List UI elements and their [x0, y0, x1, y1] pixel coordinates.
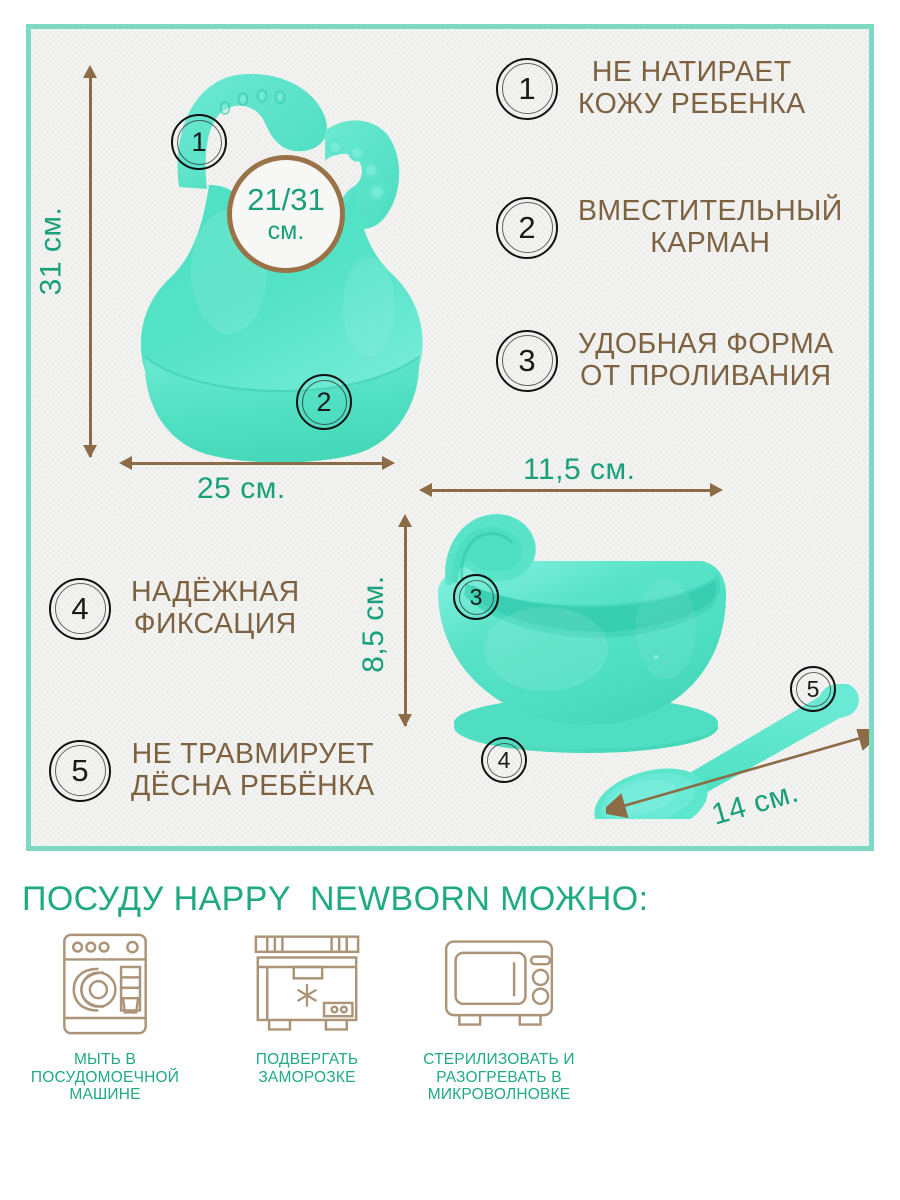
feature-item-5: 5 НЕ ТРАВМИРУЕТ ДЁСНА РЕБЁНКА — [49, 739, 375, 803]
bowl-height-label: 8,5 см. — [357, 575, 391, 673]
callout-badge-1[interactable]: 1 — [171, 114, 227, 170]
feature-badge-1[interactable]: 1 — [496, 58, 558, 120]
bowl-height-arrow-line — [404, 526, 407, 726]
bib-width-label: 25 см. — [197, 472, 286, 506]
feature-item-3: 3 УДОБНАЯ ФОРМА ОТ ПРОЛИВАНИЯ — [496, 329, 834, 393]
dishwasher-icon — [10, 926, 200, 1042]
bowl-width-arrow-line — [431, 489, 711, 492]
main-panel: 21/31 см. 1 2 31 см. 25 см. — [26, 24, 874, 851]
feature-label-2: ВМЕСТИТЕЛЬНЫЙ КАРМАН — [578, 196, 843, 260]
care-section-title: ПОСУДУ HAPPY NEWBORN МОЖНО: — [22, 880, 648, 919]
bowl-width-arrow-head-right — [710, 483, 723, 497]
callout-badge-2[interactable]: 2 — [296, 374, 352, 430]
care-caption-freezer: ПОДВЕРГАТЬ ЗАМОРОЗКЕ — [212, 1051, 402, 1086]
feature-label-4: НАДЁЖНАЯ ФИКСАЦИЯ — [131, 577, 300, 641]
bib-height-arrow-line — [89, 77, 92, 457]
feature-item-1: 1 НЕ НАТИРАЕТ КОЖУ РЕБЕНКА — [496, 57, 806, 121]
feature-label-3: УДОБНАЯ ФОРМА ОТ ПРОЛИВАНИЯ — [578, 329, 834, 393]
care-caption-dishwasher: МЫТЬ В ПОСУДОМОЕЧНОЙ МАШИНЕ — [10, 1051, 200, 1104]
feature-badge-5[interactable]: 5 — [49, 740, 111, 802]
freezer-icon — [212, 926, 402, 1042]
bib-neck-size-unit: см. — [268, 219, 305, 244]
callout-badge-4[interactable]: 4 — [481, 737, 527, 783]
feature-item-4: 4 НАДЁЖНАЯ ФИКСАЦИЯ — [49, 577, 300, 641]
care-item-microwave: СТЕРИЛИЗОВАТЬ И РАЗОГРЕВАТЬ В МИКРОВОЛНО… — [404, 926, 594, 1104]
feature-badge-4[interactable]: 4 — [49, 578, 111, 640]
feature-badge-3[interactable]: 3 — [496, 330, 558, 392]
callout-badge-3[interactable]: 3 — [453, 574, 499, 620]
bowl-height-arrow-head-up — [398, 514, 412, 527]
care-item-dishwasher: МЫТЬ В ПОСУДОМОЕЧНОЙ МАШИНЕ — [10, 926, 200, 1104]
bib-height-arrow-head-up — [83, 65, 97, 78]
bowl-height-arrow-head-down — [398, 714, 412, 727]
bowl-product-image — [426, 499, 746, 764]
bib-neck-size-value: 21/31 — [247, 184, 325, 215]
feature-label-1: НЕ НАТИРАЕТ КОЖУ РЕБЕНКА — [578, 57, 806, 121]
bowl-width-label: 11,5 см. — [523, 453, 635, 487]
care-instructions-section: ПОСУДУ HAPPY NEWBORN МОЖНО: — [0, 868, 900, 1168]
bib-width-arrow-head-right — [382, 456, 395, 470]
bib-neck-size-badge: 21/31 см. — [227, 155, 345, 273]
infographic-root: 21/31 см. 1 2 31 см. 25 см. — [0, 0, 900, 1200]
microwave-icon — [404, 926, 594, 1042]
bowl-width-arrow-head-left — [419, 483, 432, 497]
bib-height-arrow-head-down — [83, 445, 97, 458]
feature-item-2: 2 ВМЕСТИТЕЛЬНЫЙ КАРМАН — [496, 196, 843, 260]
callout-badge-5[interactable]: 5 — [790, 666, 836, 712]
feature-label-5: НЕ ТРАВМИРУЕТ ДЁСНА РЕБЁНКА — [131, 739, 375, 803]
bib-height-label: 31 см. — [34, 207, 68, 296]
care-item-freezer: ПОДВЕРГАТЬ ЗАМОРОЗКЕ — [212, 926, 402, 1086]
care-caption-microwave: СТЕРИЛИЗОВАТЬ И РАЗОГРЕВАТЬ В МИКРОВОЛНО… — [404, 1051, 594, 1104]
bib-width-arrow-line — [131, 462, 383, 465]
feature-badge-2[interactable]: 2 — [496, 197, 558, 259]
bib-width-arrow-head-left — [119, 456, 132, 470]
